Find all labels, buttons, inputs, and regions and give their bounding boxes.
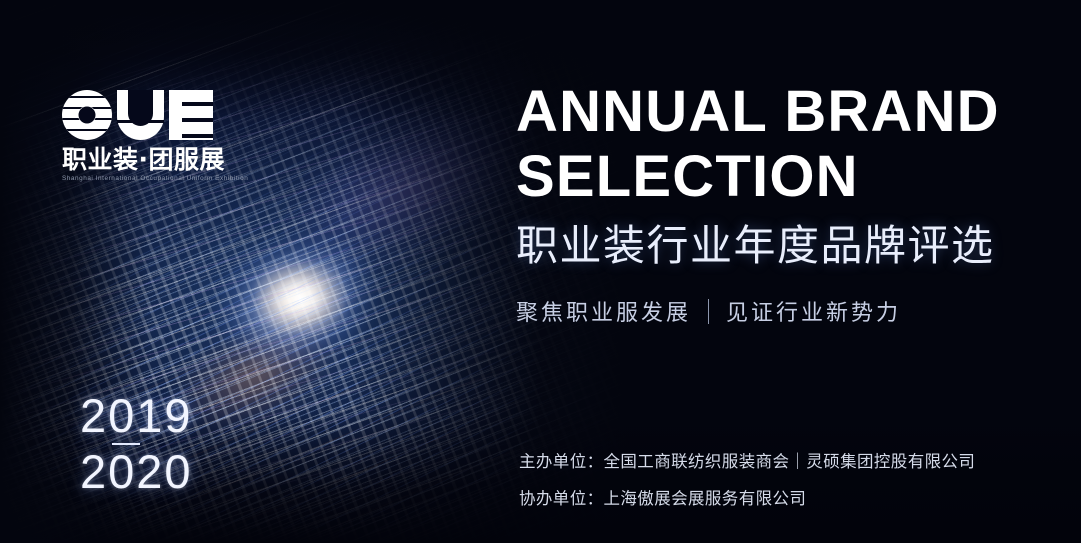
tagline-right: 见证行业新势力 bbox=[726, 295, 901, 327]
tagline-separator-icon bbox=[708, 299, 709, 324]
title-line-2: SELECTION bbox=[516, 145, 1056, 210]
event-years: 2019 2020 bbox=[80, 392, 193, 496]
logo-letter-e-icon bbox=[169, 90, 213, 140]
year-start: 2019 bbox=[80, 392, 193, 440]
organizer-credits: 主办单位：全国工商联纺织服装商会｜灵硕集团控股有限公司 协办单位：上海傲展会展服… bbox=[519, 448, 975, 509]
oue-logo-wordmark bbox=[62, 88, 238, 140]
logo-letter-o-icon bbox=[62, 90, 112, 140]
title-line-1: ANNUAL BRAND bbox=[516, 79, 1000, 144]
annual-brand-selection-banner: 职业装·团服展 Shanghai International Occupatio… bbox=[0, 0, 1081, 543]
page-title: ANNUAL BRAND SELECTION bbox=[516, 80, 1056, 210]
tagline: 聚焦职业服发展 见证行业新势力 bbox=[516, 295, 1056, 327]
host-organizer-line: 主办单位：全国工商联纺织服装商会｜灵硕集团控股有限公司 bbox=[519, 448, 975, 472]
subtitle-chinese: 职业装行业年度品牌评选 bbox=[516, 223, 1056, 269]
logo-english-name: Shanghai International Occupational Unif… bbox=[62, 176, 238, 182]
hero-text-block: ANNUAL BRAND SELECTION 职业装行业年度品牌评选 聚焦职业服… bbox=[516, 80, 1056, 327]
tagline-left: 聚焦职业服发展 bbox=[516, 295, 691, 327]
oue-logo: 职业装·团服展 Shanghai International Occupatio… bbox=[62, 88, 238, 182]
year-end: 2020 bbox=[80, 448, 193, 496]
co-organizer-line: 协办单位：上海傲展会展服务有限公司 bbox=[519, 485, 975, 509]
logo-chinese-name: 职业装·团服展 bbox=[62, 147, 238, 172]
logo-letter-u-icon bbox=[117, 90, 164, 140]
